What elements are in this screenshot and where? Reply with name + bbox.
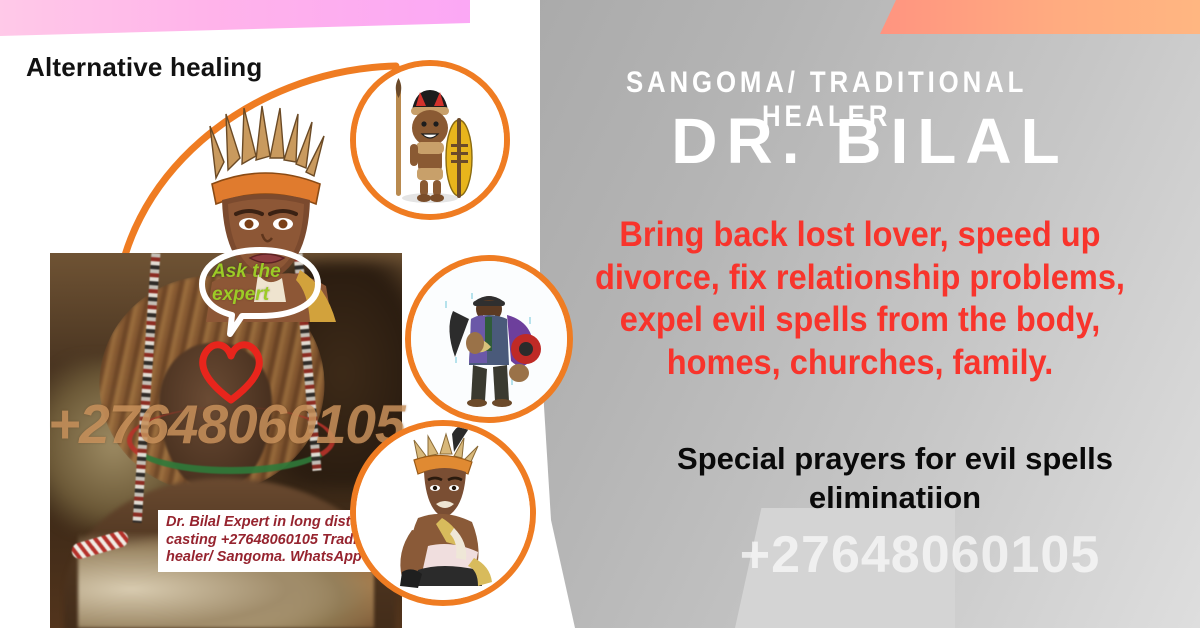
services-line-2: divorce, fix relationship problems, <box>562 257 1157 300</box>
prayers-line-1: Special prayers for evil spells <box>600 440 1190 479</box>
speech-bubble: Ask the expert <box>196 246 324 338</box>
inset-circle-zulu-warrior[interactable] <box>350 60 510 220</box>
page-title: DR. BILAL <box>560 104 1180 178</box>
special-prayers-text: Special prayers for evil spells eliminat… <box>600 440 1190 518</box>
prayers-line-2: eliminatiion <box>600 479 1190 518</box>
services-line-4: homes, churches, family. <box>562 342 1157 385</box>
inset-circle-healer-cloak[interactable] <box>405 255 573 423</box>
orange-accent-bar <box>880 0 1200 34</box>
healer-cloak-icon <box>411 261 567 417</box>
services-line-1: Bring back lost lover, speed up <box>562 214 1157 257</box>
crouching-warrior-icon <box>356 426 530 600</box>
services-line-3: expel evil spells from the body, <box>562 299 1157 342</box>
contact-phone-watermark: +27648060105 <box>640 525 1200 585</box>
alternative-healing-label: Alternative healing <box>26 52 262 83</box>
speech-bubble-text: Ask the expert <box>212 260 312 306</box>
inset-circle-crouching-warrior[interactable] <box>350 420 536 606</box>
poster-canvas: +27648060105 <box>0 0 1200 628</box>
services-text: Bring back lost lover, speed up divorce,… <box>562 214 1157 385</box>
zulu-warrior-icon <box>356 66 504 214</box>
